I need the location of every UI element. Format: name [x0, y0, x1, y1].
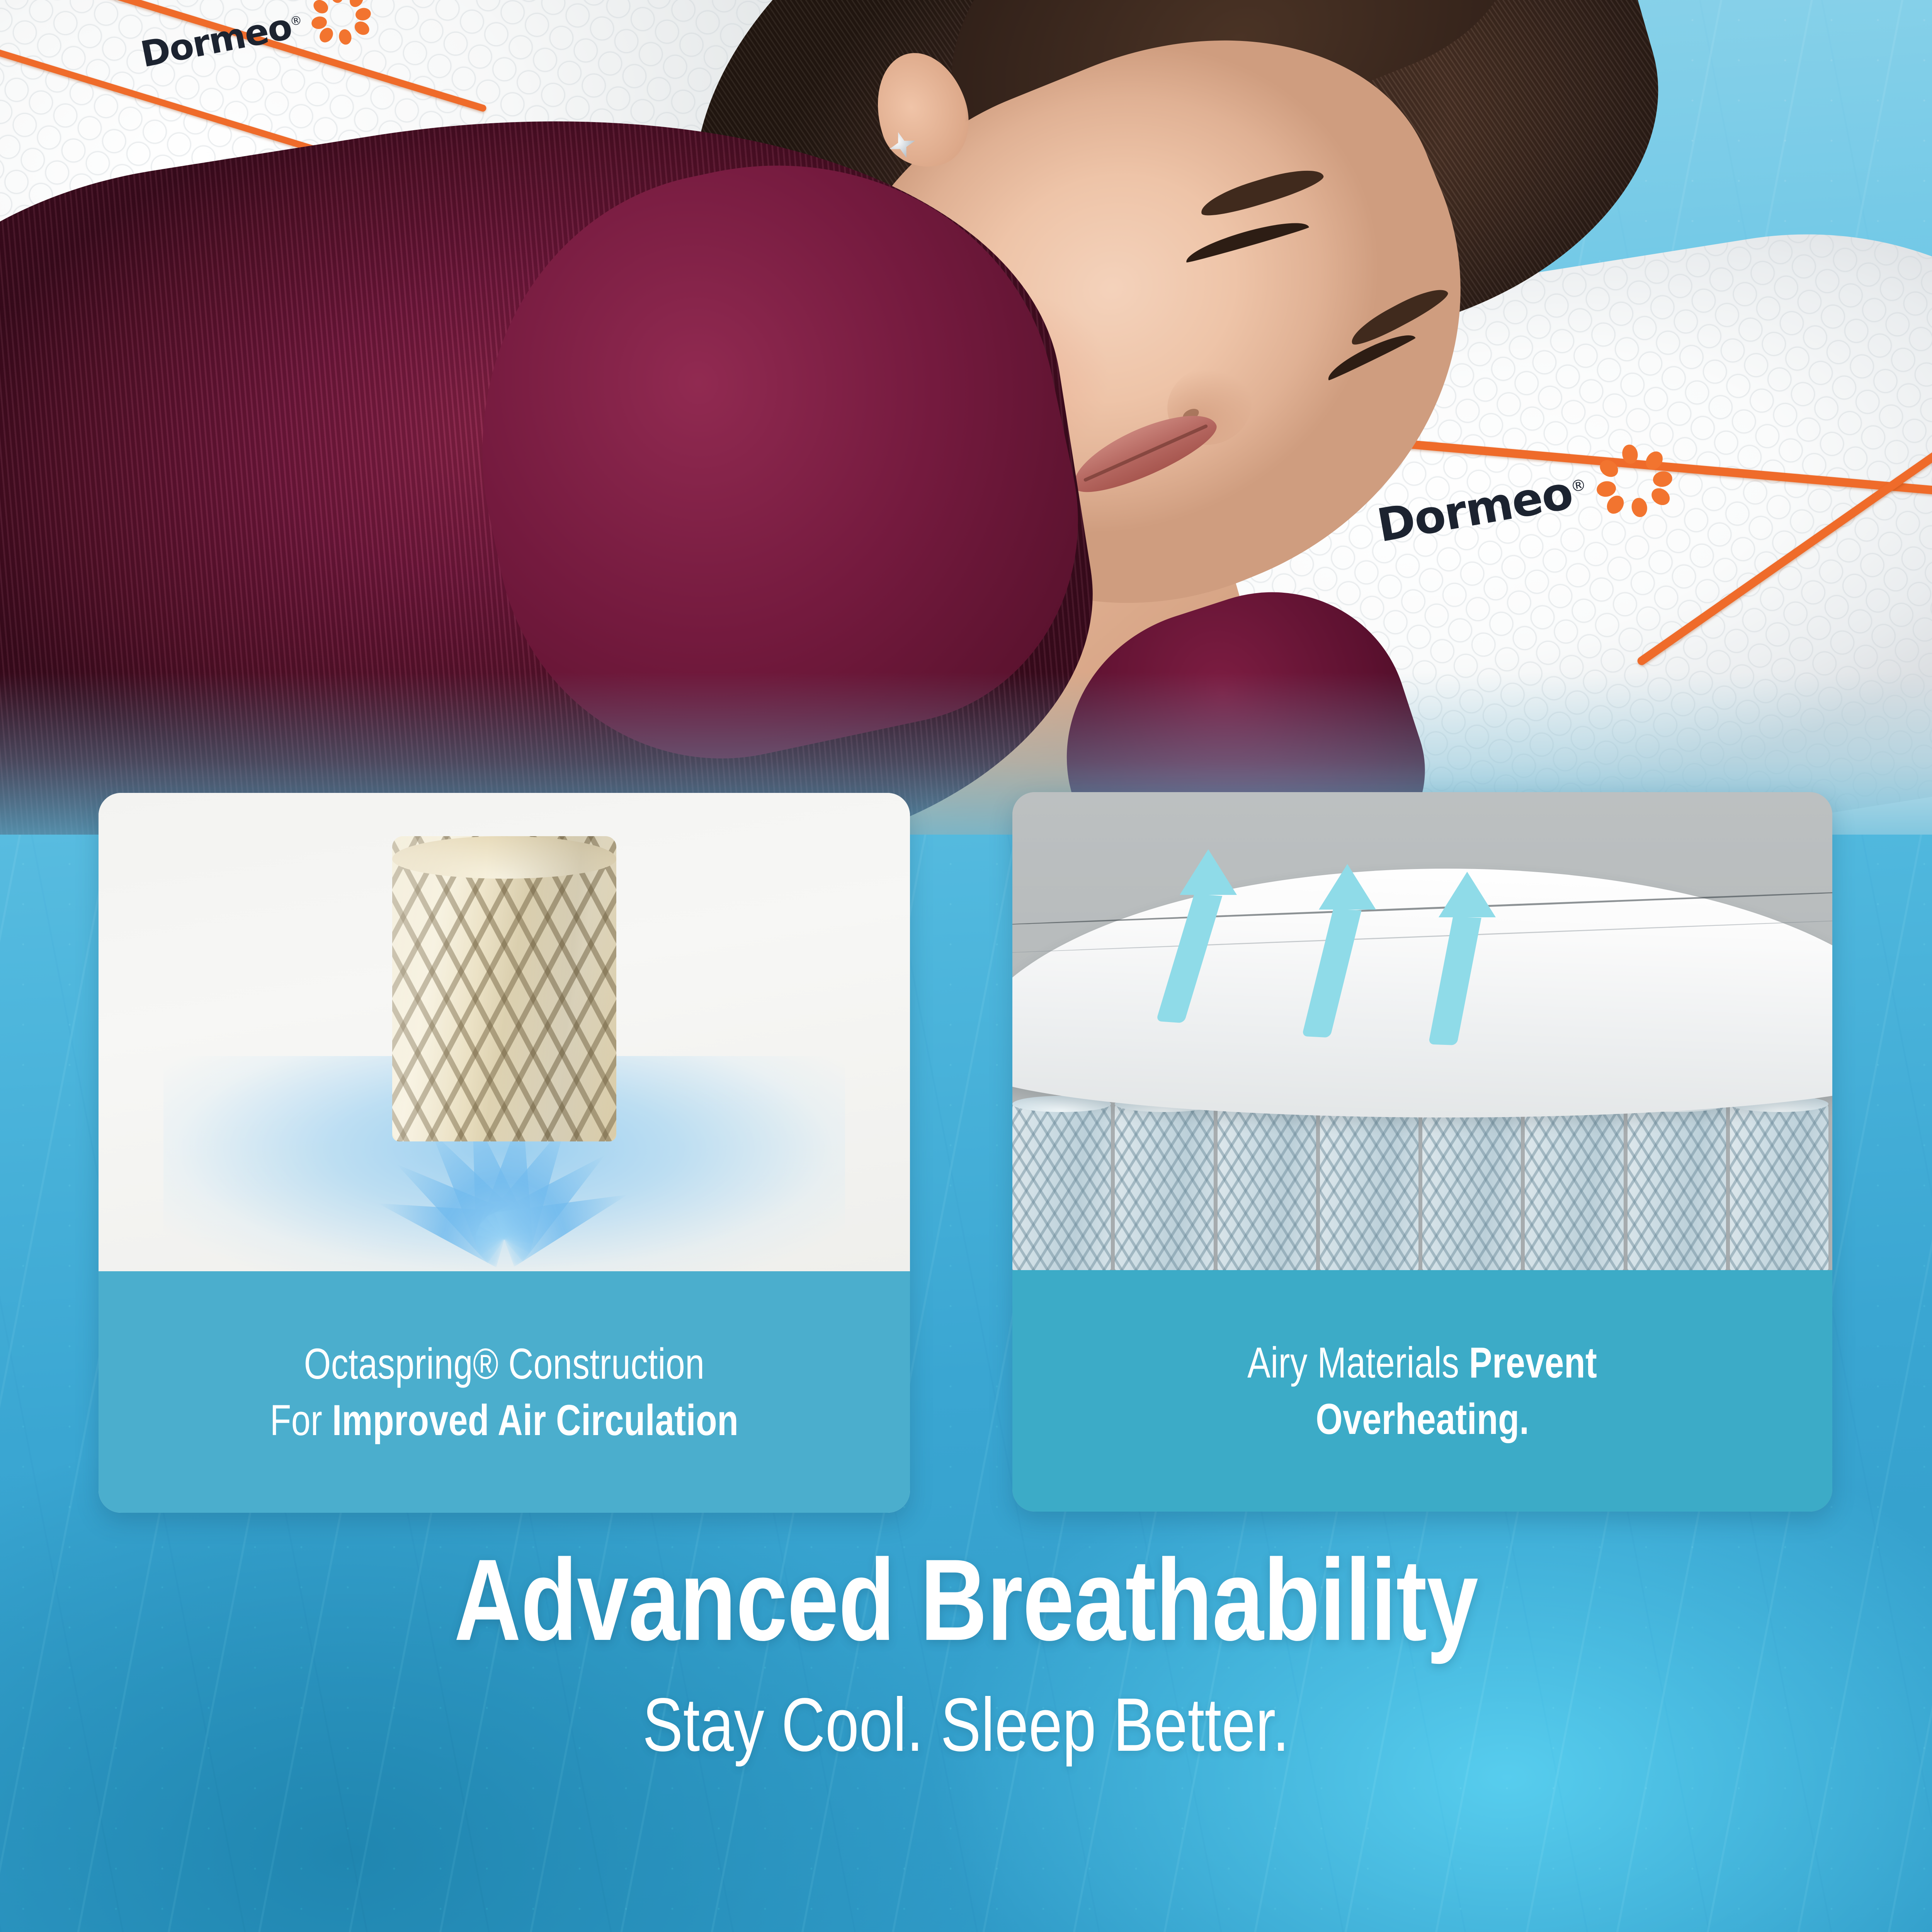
feature-card-airy-materials[interactable]: Airy Materials Prevent Overheating.: [1012, 792, 1832, 1512]
octaspring-cell-shading: [392, 836, 616, 1141]
page-subtitle: Stay Cool. Sleep Better.: [193, 1687, 1739, 1763]
spring-cell: [1115, 1102, 1213, 1270]
mattress-cutaway-image: [1012, 792, 1832, 1270]
airy-caption-line-1: Airy Materials Prevent: [1247, 1335, 1597, 1391]
octaspring-caption-line-2: For Improved Air Circulation: [270, 1392, 739, 1449]
octaspring-ring-icon: [1591, 439, 1676, 524]
spring-cell: [1218, 1102, 1316, 1270]
hero-photo: Dormeo® Dormeo®: [0, 0, 1932, 835]
airflow-arrow-icon: [1194, 849, 1223, 1022]
airflow-arrow-icon: [1333, 864, 1362, 1037]
spring-cell: [1525, 1102, 1623, 1270]
spring-cell: [1012, 1102, 1111, 1270]
octaspring-cell-image: [99, 793, 910, 1271]
spring-cell: [1730, 1102, 1828, 1270]
footer-headline-block: Advanced Breathability Stay Cool. Sleep …: [0, 1542, 1932, 1763]
octaspring-caption-line-1: Octaspring® Construction: [304, 1336, 705, 1392]
page-title: Advanced Breathability: [193, 1542, 1739, 1658]
airy-caption-line-2: Overheating.: [1316, 1391, 1529, 1447]
spring-cell: [1320, 1102, 1418, 1270]
airy-materials-caption-band: Airy Materials Prevent Overheating.: [1012, 1270, 1832, 1512]
airflow-arrow-icon: [1453, 872, 1481, 1045]
spring-cell: [1422, 1102, 1521, 1270]
spring-cell: [1628, 1102, 1726, 1270]
octaspring-caption-band: Octaspring® Construction For Improved Ai…: [99, 1271, 910, 1513]
marketing-banner: Dormeo® Dormeo®: [0, 0, 1932, 1932]
feature-card-octaspring[interactable]: Octaspring® Construction For Improved Ai…: [99, 793, 910, 1513]
